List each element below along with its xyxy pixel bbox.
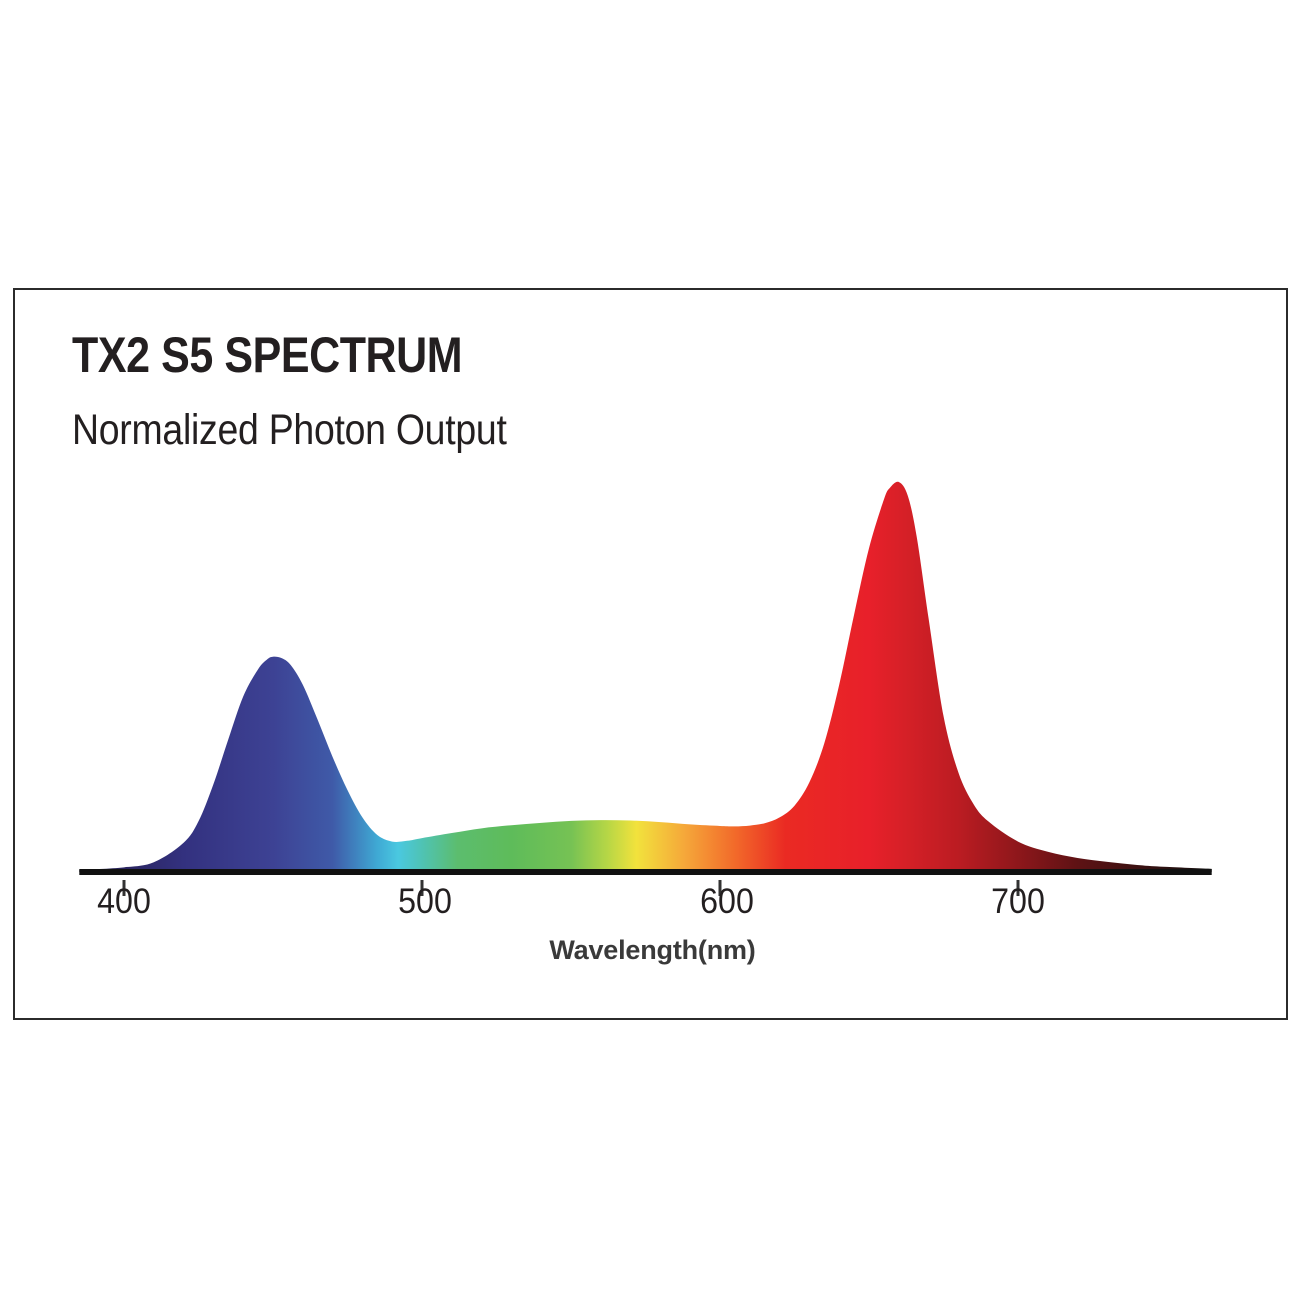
x-tick-label-400: 400 xyxy=(97,882,151,922)
plot-area: 400 500 600 700 Wavelength(nm) xyxy=(15,290,1290,1022)
spectrum-curve-svg xyxy=(15,290,1290,1022)
x-axis-tick-marks xyxy=(124,880,1018,896)
x-tick-label-600: 600 xyxy=(700,882,754,922)
spectrum-chart-card: TX2 S5 SPECTRUM Normalized Photon Output… xyxy=(13,288,1288,1020)
x-tick-label-500: 500 xyxy=(398,882,452,922)
x-tick-label-700: 700 xyxy=(991,882,1045,922)
spectrum-area-path xyxy=(79,482,1211,872)
x-axis-title: Wavelength(nm) xyxy=(15,935,1290,966)
